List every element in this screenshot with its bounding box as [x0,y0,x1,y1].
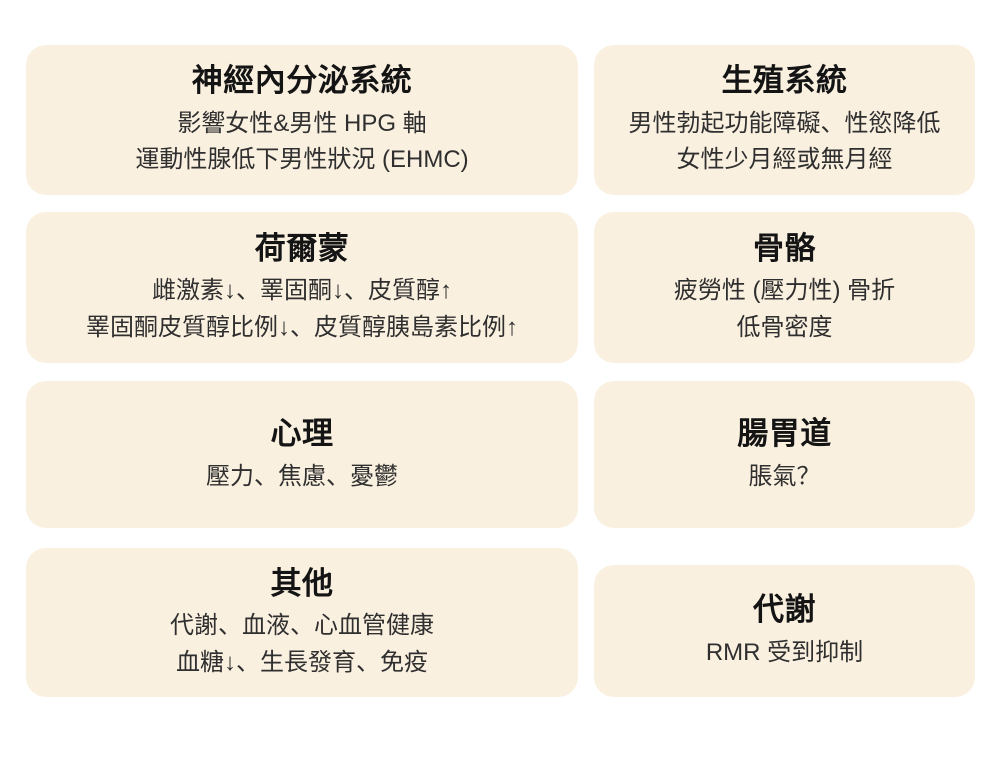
card-other: 其他 代謝、血液、心血管健康 血糖↓、生長發育、免疫 [26,548,578,697]
card-grid: 神經內分泌系統 影響女性&男性 HPG 軸 運動性腺低下男性狀況 (EHMC) … [0,0,1000,772]
card-title: 心理 [271,415,334,453]
card-title: 荷爾蒙 [255,230,350,268]
card-line: 疲勞性 (壓力性) 骨折 [674,274,895,309]
card-title: 腸胃道 [737,415,832,453]
card-title: 神經內分泌系統 [192,62,413,100]
card-line: 影響女性&男性 HPG 軸 [177,107,426,142]
card-title: 其他 [271,565,334,603]
card-title: 骨骼 [753,230,816,268]
card-line: RMR 受到抑制 [706,636,863,671]
card-line: 睪固酮皮質醇比例↓、皮質醇胰島素比例↑ [86,311,518,346]
card-line: 壓力、焦慮、憂鬱 [206,460,398,495]
card-psychological: 心理 壓力、焦慮、憂鬱 [26,381,578,528]
card-line: 運動性腺低下男性狀況 (EHMC) [135,143,468,178]
card-title: 代謝 [753,591,816,629]
card-title: 生殖系統 [722,62,848,100]
card-gastrointestinal: 腸胃道 脹氣？ [594,381,975,528]
card-line: 血糖↓、生長發育、免疫 [176,646,428,681]
card-line: 雌激素↓、睪固酮↓、皮質醇↑ [152,274,452,309]
card-metabolism: 代謝 RMR 受到抑制 [594,565,975,697]
card-line: 女性少月經或無月經 [677,143,893,178]
card-hormones: 荷爾蒙 雌激素↓、睪固酮↓、皮質醇↑ 睪固酮皮質醇比例↓、皮質醇胰島素比例↑ [26,212,578,363]
card-line: 低骨密度 [737,311,833,346]
card-reproductive-system: 生殖系統 男性勃起功能障礙、性慾降低 女性少月經或無月經 [594,45,975,195]
card-line: 代謝、血液、心血管健康 [170,609,434,644]
card-line: 脹氣？ [749,460,821,495]
card-line: 男性勃起功能障礙、性慾降低 [629,107,941,142]
card-skeletal: 骨骼 疲勞性 (壓力性) 骨折 低骨密度 [594,212,975,363]
card-neuroendocrine-system: 神經內分泌系統 影響女性&男性 HPG 軸 運動性腺低下男性狀況 (EHMC) [26,45,578,195]
